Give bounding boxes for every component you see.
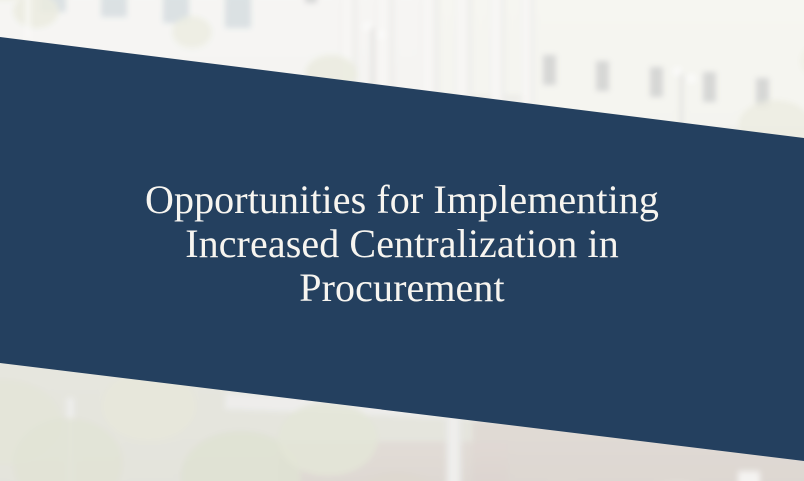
page-title-line-1: Opportunities for Implementing: [72, 178, 732, 222]
title-slide: Opportunities for Implementing Increased…: [0, 0, 804, 481]
page-title: Opportunities for Implementing Increased…: [0, 178, 804, 310]
page-title-line-3: Procurement: [72, 266, 732, 310]
page-title-line-2: Increased Centralization in: [72, 222, 732, 266]
